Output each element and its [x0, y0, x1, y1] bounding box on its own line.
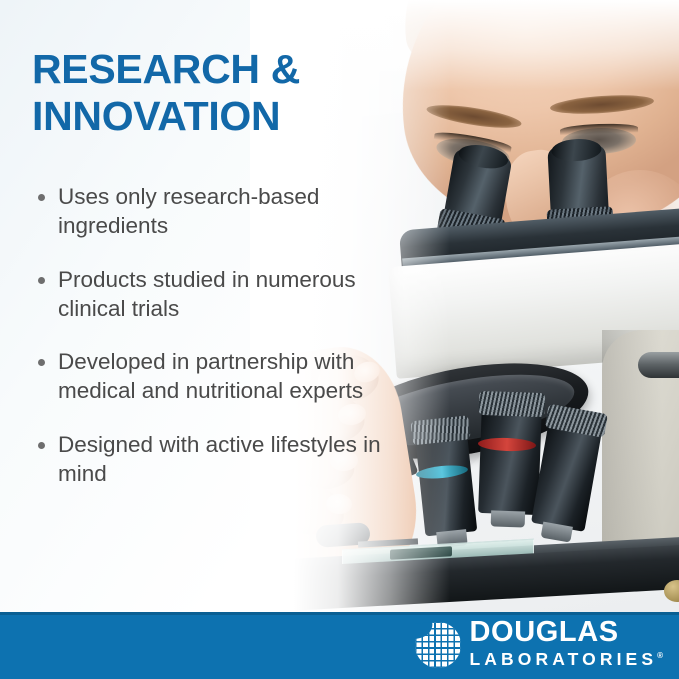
- brand-logo: DOUGLAS LABORATORIES®: [415, 618, 664, 676]
- logo-bottom-crop: [415, 669, 461, 676]
- grid-circle-logo-icon: [415, 622, 461, 676]
- brand-name-secondary-text: LABORATORIES: [470, 649, 658, 669]
- page-title-line-2: INNOVATION: [32, 93, 372, 140]
- feature-list: Uses only research-based ingredients Pro…: [32, 182, 382, 512]
- brand-name-secondary: LABORATORIES®: [470, 651, 664, 669]
- focus-knob: [638, 352, 679, 378]
- brand-footer-bar: DOUGLAS LABORATORIES®: [0, 612, 679, 679]
- list-item: Designed with active lifestyles in mind: [32, 430, 382, 489]
- footer-top-edge: [0, 612, 679, 615]
- list-item: Uses only research-based ingredients: [32, 182, 382, 241]
- objective-3-collar: [479, 391, 546, 417]
- list-item: Products studied in numerous clinical tr…: [32, 265, 382, 324]
- page-title-line-1: RESEARCH &: [32, 46, 372, 93]
- brand-name-primary: DOUGLAS: [470, 618, 664, 647]
- objective-3-tip: [491, 510, 525, 527]
- brand-logo-text: DOUGLAS LABORATORIES®: [470, 618, 664, 669]
- infographic-canvas: RESEARCH & INNOVATION Uses only research…: [0, 0, 679, 679]
- registered-trademark-icon: ®: [657, 651, 663, 660]
- objective-lens-3: [478, 403, 542, 515]
- page-title: RESEARCH & INNOVATION: [32, 46, 372, 139]
- list-item: Developed in partnership with medical an…: [32, 347, 382, 406]
